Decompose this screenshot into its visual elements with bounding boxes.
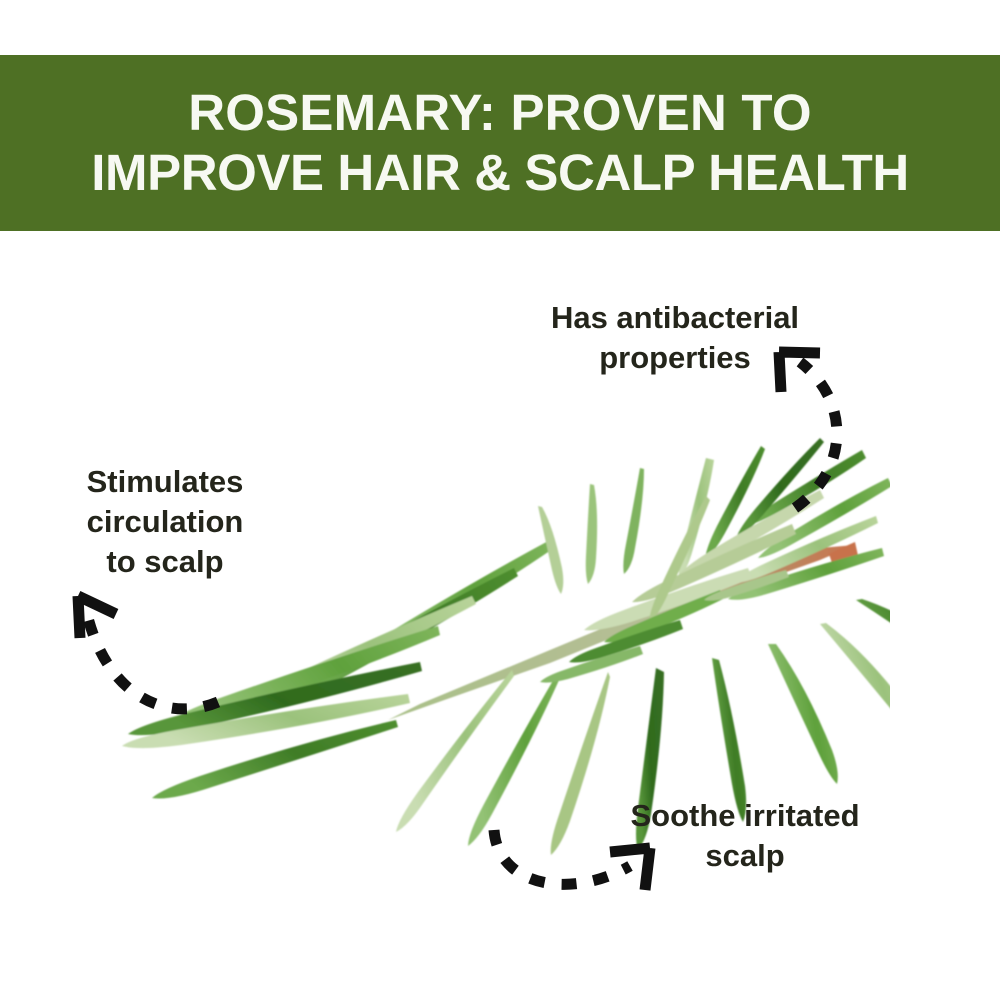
infographic-root: ROSEMARY: PROVEN TO IMPROVE HAIR & SCALP…	[0, 0, 1000, 1000]
callout-antibacterial-line-1: Has antibacterial	[500, 298, 850, 338]
header-title-line-2: IMPROVE HAIR & SCALP HEALTH	[91, 143, 909, 203]
callout-antibacterial-line-2: properties	[500, 338, 850, 378]
callout-antibacterial: Has antibacterial properties	[500, 298, 850, 378]
callout-circulation-line-2: circulation	[35, 502, 295, 542]
sprig-top-tufts	[538, 468, 644, 594]
callout-soothe-line-2: scalp	[580, 836, 910, 876]
callout-soothe: Soothe irritated scalp	[580, 796, 910, 876]
callout-circulation: Stimulates circulation to scalp	[35, 462, 295, 582]
header-title-line-1: ROSEMARY: PROVEN TO	[188, 83, 811, 143]
callout-soothe-line-1: Soothe irritated	[580, 796, 910, 836]
header-band: ROSEMARY: PROVEN TO IMPROVE HAIR & SCALP…	[0, 55, 1000, 231]
callout-circulation-line-3: to scalp	[35, 542, 295, 582]
callout-circulation-line-1: Stimulates	[35, 462, 295, 502]
